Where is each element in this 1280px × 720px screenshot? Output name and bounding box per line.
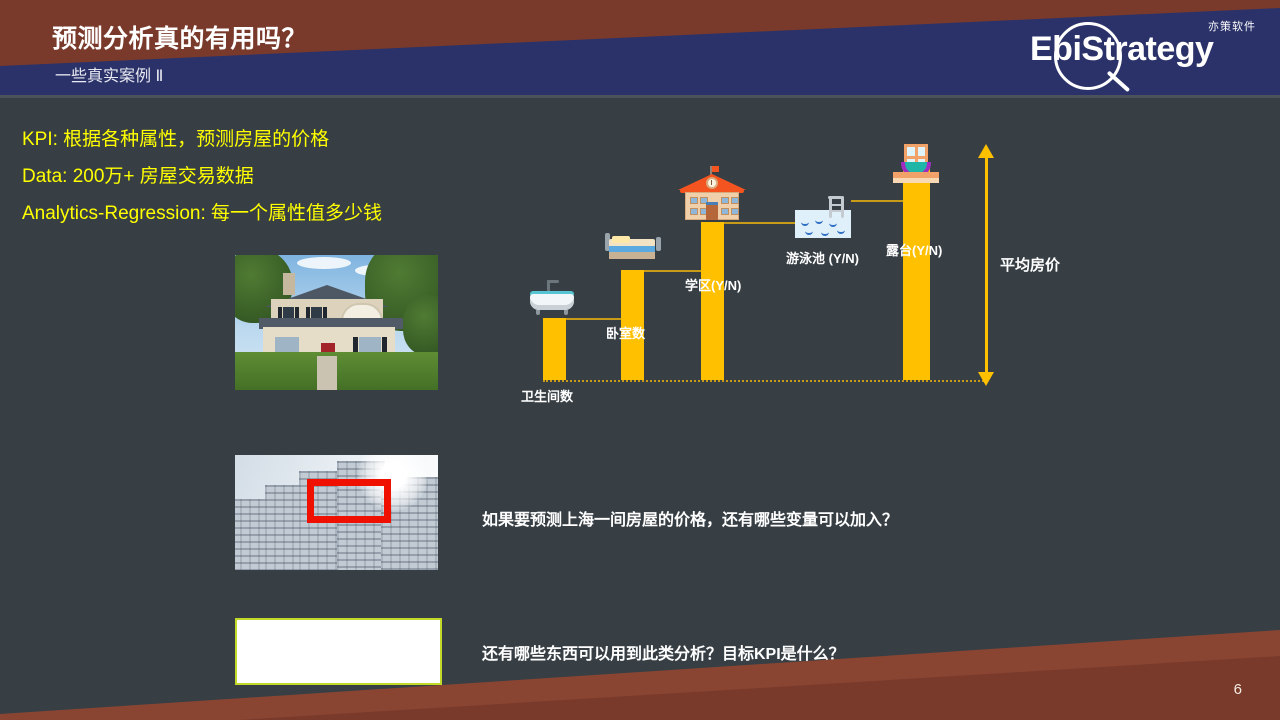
pool-ladder-rail-icon [841, 196, 844, 218]
bullet-kpi: KPI: 根据各种属性，预测房屋的价格 [22, 124, 329, 151]
pool-ladder-top-icon [828, 196, 842, 199]
balcony-icon [893, 144, 939, 184]
brand-logo-chinese: 亦策软件 [1208, 18, 1256, 34]
pool-ladder-rail-icon [829, 196, 832, 218]
bed-pillow-icon [612, 236, 630, 243]
house-photo [235, 255, 438, 390]
connector-2 [644, 270, 702, 272]
magnifier-icon [1054, 22, 1122, 90]
chart-baseline [543, 380, 987, 382]
tub-body-icon [530, 294, 574, 310]
bed-icon [605, 231, 661, 263]
chart-label-school: 学区(Y/N) [685, 275, 741, 294]
page-subtitle: 一些真实案例 Ⅱ [55, 62, 163, 86]
blank-answer-box[interactable] [235, 618, 442, 685]
school-window-icon [690, 197, 698, 204]
school-icon [678, 166, 746, 222]
connector-3 [724, 222, 795, 224]
tub-leg-icon [536, 310, 540, 315]
header-separator [0, 95, 1280, 98]
pool-ladder-rung-icon [829, 210, 844, 212]
balcony-floor-icon [893, 178, 939, 183]
bathtub-icon [530, 280, 578, 316]
bar-bathrooms [543, 318, 566, 380]
school-clock-icon [706, 177, 718, 189]
bed-footboard-icon [656, 237, 661, 251]
school-flag-icon [712, 166, 719, 172]
pool-ladder-rung-icon [829, 204, 844, 206]
school-window-icon [721, 208, 729, 215]
school-clock-hand-icon [711, 180, 712, 185]
school-door-icon [706, 202, 718, 220]
chart-label-balcony: 露台(Y/N) [886, 240, 942, 259]
brand-logo: 亦策软件 EbiStrategy [1012, 10, 1262, 90]
school-window-icon [690, 208, 698, 215]
bed-base-icon [609, 252, 655, 259]
bar-school-district [701, 222, 724, 380]
photo-cloud [297, 257, 351, 269]
school-window-icon [721, 197, 729, 204]
tub-tap-spout-icon [547, 280, 559, 283]
bullet-data: Data: 200万+ 房屋交易数据 [22, 161, 254, 188]
average-price-axis [985, 152, 988, 382]
balcony-window-transom-icon [904, 156, 928, 159]
school-window-icon [731, 197, 739, 204]
pool-icon [795, 196, 851, 242]
page-number: 6 [1234, 681, 1242, 698]
apartment-photo [235, 455, 438, 570]
question-other-analysis: 还有哪些东西可以用到此类分析？目标KPI是什么？ [482, 640, 845, 664]
photo-walkway [317, 356, 337, 390]
arrow-down-icon [978, 372, 994, 386]
bullet-analytics: Analytics-Regression: 每一个属性值多少钱 [22, 198, 382, 225]
average-price-label: 平均房价 [1000, 254, 1060, 275]
connector-4 [851, 200, 903, 202]
question-variables: 如果要预测上海一间房屋的价格，还有哪些变量可以加入？ [482, 506, 898, 530]
photo-tree [403, 295, 438, 355]
red-highlight-box [307, 479, 391, 523]
connector-1 [566, 318, 622, 320]
chart-label-bathrooms: 卫生间数 [521, 386, 573, 405]
school-window-icon [731, 208, 739, 215]
page-title: 预测分析真的有用吗？ [52, 19, 307, 55]
slide-canvas: 预测分析真的有用吗？ 一些真实案例 Ⅱ 亦策软件 EbiStrategy KPI… [0, 0, 1280, 720]
tub-leg-icon [564, 310, 568, 315]
bar-balcony [903, 168, 930, 380]
chart-label-pool: 游泳池 (Y/N) [786, 248, 859, 267]
chart-label-bedrooms: 卧室数 [606, 323, 645, 342]
